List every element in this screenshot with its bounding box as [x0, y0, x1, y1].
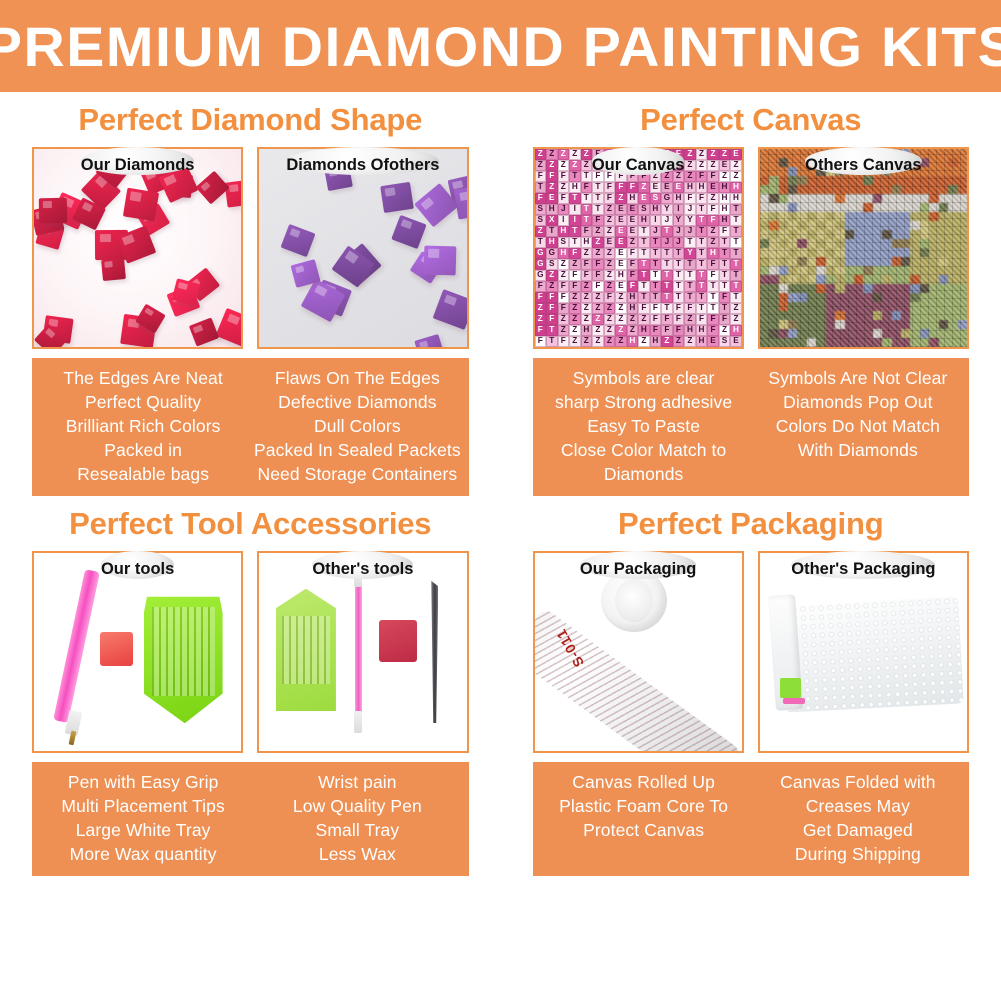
- canvas-symbol-cell: E: [615, 237, 627, 248]
- textbox-column-ours: Symbols are clearsharp Strong adhesiveEa…: [537, 366, 751, 486]
- green-tray-peek: [780, 678, 801, 698]
- canvas-symbol-cell: T: [638, 259, 650, 270]
- drill-square: [414, 334, 445, 349]
- green-tray: [144, 589, 223, 724]
- canvas-symbol-cell: Z: [604, 259, 616, 270]
- canvas-symbol-cell: F: [546, 171, 558, 182]
- canvas-symbol-cell: T: [730, 281, 742, 292]
- card-caption: Diamonds Ofothers: [286, 147, 439, 175]
- canvas-symbol-cell: Z: [627, 325, 639, 336]
- canvas-symbol-cell: Z: [604, 325, 616, 336]
- card-our-packaging: S-011 Our Packaging: [533, 551, 744, 753]
- canvas-symbol-cell: J: [661, 215, 673, 226]
- photo-purple-drills: [257, 147, 468, 349]
- canvas-symbol-cell: T: [546, 226, 558, 237]
- textbox-line: Close Color Match to: [537, 438, 751, 462]
- canvas-symbol-cell: T: [696, 292, 708, 303]
- canvas-symbol-cell: H: [615, 270, 627, 281]
- canvas-symbol-cell: T: [719, 303, 731, 314]
- canvas-symbol-cell: F: [673, 314, 685, 325]
- canvas-symbol-cell: T: [581, 193, 593, 204]
- canvas-symbol-cell: F: [604, 193, 616, 204]
- textbox-line: Colors Do Not Match: [751, 414, 965, 438]
- canvas-symbol-cell: X: [546, 215, 558, 226]
- canvas-symbol-cell: G: [661, 193, 673, 204]
- canvas-symbol-cell: E: [546, 193, 558, 204]
- canvas-symbol-cell: H: [673, 193, 685, 204]
- canvas-symbol-cell: F: [535, 325, 547, 336]
- canvas-symbol-cell: H: [719, 204, 731, 215]
- canvas-symbol-cell: Z: [558, 182, 570, 193]
- canvas-symbol-cell: F: [627, 259, 639, 270]
- pink-pen: [53, 569, 99, 723]
- canvas-symbol-cell: T: [535, 182, 547, 193]
- canvas-symbol-cell: F: [581, 226, 593, 237]
- canvas-symbol-cell: F: [592, 215, 604, 226]
- canvas-symbol-cell: H: [569, 182, 581, 193]
- textbox-line: Diamonds: [537, 462, 751, 486]
- tray-ribs: [152, 607, 215, 696]
- canvas-symbol-cell: Z: [638, 314, 650, 325]
- canvas-symbol-cell: H: [696, 182, 708, 193]
- canvas-symbol-cell: F: [627, 248, 639, 259]
- canvas-symbol-cell: E: [707, 336, 719, 347]
- section-canvas: Perfect Canvas ZZZZZFFFFFZZFZZZZEZZZZZFF…: [501, 92, 1001, 496]
- canvas-symbol-cell: H: [627, 292, 639, 303]
- canvas-symbol-cell: Z: [730, 314, 742, 325]
- canvas-symbol-cell: E: [627, 226, 639, 237]
- canvas-symbol-cell: I: [673, 204, 685, 215]
- canvas-symbol-cell: T: [592, 193, 604, 204]
- canvas-symbol-cell: Z: [569, 292, 581, 303]
- pink-symbol-grid-art: ZZZZZFFFFFZZFZZZZEZZZZZFFFFFFZZZZZEZFFFT…: [535, 149, 742, 347]
- textbox-column-ours: Canvas Rolled UpPlastic Foam Core ToProt…: [537, 770, 751, 866]
- canvas-symbol-cell: T: [707, 292, 719, 303]
- textbox-column-others: Symbols Are Not ClearDiamonds Pop OutCol…: [751, 366, 965, 486]
- textbox-line: Packed In Sealed Packets: [250, 438, 464, 462]
- section-textbox: Pen with Easy GripMulti Placement TipsLa…: [32, 762, 469, 876]
- canvas-symbol-cell: T: [719, 248, 731, 259]
- canvas-symbol-cell: E: [661, 182, 673, 193]
- canvas-symbol-cell: T: [661, 281, 673, 292]
- canvas-symbol-cell: Z: [569, 160, 581, 171]
- canvas-symbol-cell: F: [558, 193, 570, 204]
- canvas-symbol-cell: T: [546, 336, 558, 347]
- textbox-line: Brilliant Rich Colors: [36, 414, 250, 438]
- canvas-symbol-cell: Z: [684, 149, 696, 160]
- card-our-canvas: ZZZZZFFFFFZZFZZZZEZZZZZFFFFFFZZZZZEZFFFT…: [533, 147, 744, 349]
- canvas-symbol-cell: E: [627, 215, 639, 226]
- canvas-symbol-cell: G: [535, 259, 547, 270]
- canvas-symbol-cell: Z: [719, 325, 731, 336]
- photo-mailing-tube: S-011: [533, 551, 744, 753]
- drill-square: [423, 246, 456, 276]
- canvas-symbol-cell: Z: [558, 325, 570, 336]
- section-tool-accessories: Perfect Tool Accessories: [0, 496, 501, 876]
- textbox-line: Protect Canvas: [537, 818, 751, 842]
- canvas-symbol-cell: Z: [707, 193, 719, 204]
- canvas-symbol-cell: E: [627, 204, 639, 215]
- canvas-symbol-cell: H: [650, 336, 662, 347]
- canvas-symbol-cell: Z: [581, 149, 593, 160]
- textbox-line: sharp Strong adhesive: [537, 390, 751, 414]
- canvas-symbol-cell: F: [627, 281, 639, 292]
- canvas-symbol-cell: F: [673, 325, 685, 336]
- canvas-symbol-cell: E: [638, 193, 650, 204]
- canvas-symbol-cell: J: [661, 237, 673, 248]
- canvas-symbol-cell: Z: [581, 303, 593, 314]
- textbox-line: Get Damaged: [751, 818, 965, 842]
- canvas-symbol-cell: T: [638, 292, 650, 303]
- canvas-symbol-cell: T: [696, 259, 708, 270]
- our-tools-art: [34, 553, 241, 751]
- purple-square-drills-art: [259, 149, 466, 347]
- canvas-symbol-cell: Z: [707, 149, 719, 160]
- canvas-symbol-cell: H: [696, 336, 708, 347]
- canvas-symbol-cell: Z: [592, 303, 604, 314]
- canvas-symbol-cell: T: [661, 270, 673, 281]
- canvas-symbol-cell: T: [719, 270, 731, 281]
- canvas-symbol-cell: Z: [581, 248, 593, 259]
- canvas-symbol-cell: T: [673, 292, 685, 303]
- canvas-symbol-cell: Z: [592, 336, 604, 347]
- canvas-symbol-cell: Z: [604, 336, 616, 347]
- section-textbox: The Edges Are NeatPerfect QualityBrillia…: [32, 358, 469, 496]
- canvas-symbol-cell: F: [581, 182, 593, 193]
- canvas-symbol-cell: T: [684, 292, 696, 303]
- drill-square: [101, 258, 126, 281]
- blurry-canvas-art: [760, 149, 967, 347]
- canvas-symbol-cell: H: [730, 193, 742, 204]
- canvas-symbol-cell: F: [696, 193, 708, 204]
- canvas-symbol-cell: F: [592, 270, 604, 281]
- canvas-symbol-cell: F: [684, 303, 696, 314]
- canvas-symbol-cell: F: [546, 303, 558, 314]
- canvas-symbol-cell: E: [615, 259, 627, 270]
- canvas-symbol-cell: Z: [535, 303, 547, 314]
- textbox-line: Dull Colors: [250, 414, 464, 438]
- canvas-symbol-cell: F: [650, 314, 662, 325]
- canvas-symbol-cell: J: [558, 204, 570, 215]
- canvas-symbol-cell: Z: [581, 292, 593, 303]
- canvas-symbol-cell: F: [558, 292, 570, 303]
- canvas-symbol-cell: T: [661, 303, 673, 314]
- canvas-symbol-cell: T: [684, 259, 696, 270]
- canvas-symbol-cell: E: [604, 237, 616, 248]
- canvas-symbol-cell: F: [650, 325, 662, 336]
- textbox-line: Diamonds Pop Out: [751, 390, 965, 414]
- canvas-symbol-cell: S: [535, 204, 547, 215]
- canvas-symbol-cell: Z: [592, 237, 604, 248]
- canvas-symbol-cell: F: [707, 325, 719, 336]
- canvas-symbol-cell: T: [684, 281, 696, 292]
- canvas-symbol-cell: Z: [569, 303, 581, 314]
- canvas-symbol-cell: S: [546, 259, 558, 270]
- textbox-line: More Wax quantity: [36, 842, 250, 866]
- canvas-symbol-cell: H: [707, 248, 719, 259]
- canvas-symbol-cell: H: [719, 215, 731, 226]
- canvas-symbol-cell: T: [638, 237, 650, 248]
- canvas-symbol-cell: H: [581, 237, 593, 248]
- canvas-symbol-cell: Z: [546, 182, 558, 193]
- canvas-symbol-cell: H: [558, 248, 570, 259]
- wax-square: [100, 632, 133, 666]
- textbox-line: Canvas Folded with: [751, 770, 965, 794]
- pink-pen: [355, 573, 362, 727]
- tray-ribs: [282, 616, 330, 685]
- canvas-symbol-cell: F: [719, 314, 731, 325]
- canvas-symbol-cell: F: [615, 182, 627, 193]
- other-packaging-art: [760, 553, 967, 751]
- photo-other-tools: [257, 551, 468, 753]
- canvas-symbol-cell: F: [650, 303, 662, 314]
- canvas-symbol-cell: E: [615, 204, 627, 215]
- canvas-symbol-cell: F: [604, 182, 616, 193]
- canvas-symbol-cell: H: [546, 237, 558, 248]
- page-header: PREMIUM DIAMOND PAINTING KITS: [0, 0, 1001, 92]
- canvas-symbol-cell: T: [707, 303, 719, 314]
- textbox-line: Symbols are clear: [537, 366, 751, 390]
- canvas-symbol-cell: F: [592, 259, 604, 270]
- our-packaging-art: S-011: [535, 553, 742, 751]
- textbox-line: Wrist pain: [250, 770, 464, 794]
- canvas-symbol-cell: H: [546, 204, 558, 215]
- canvas-symbol-cell: T: [581, 204, 593, 215]
- canvas-symbol-cell: E: [615, 248, 627, 259]
- canvas-symbol-cell: T: [719, 259, 731, 270]
- canvas-symbol-cell: Z: [707, 160, 719, 171]
- canvas-symbol-cell: G: [546, 248, 558, 259]
- canvas-symbol-cell: H: [638, 325, 650, 336]
- canvas-symbol-cell: I: [569, 215, 581, 226]
- canvas-symbol-cell: H: [627, 303, 639, 314]
- textbox-line: Less Wax: [250, 842, 464, 866]
- canvas-symbol-cell: T: [684, 270, 696, 281]
- canvas-symbol-cell: Z: [604, 314, 616, 325]
- textbox-line: Large White Tray: [36, 818, 250, 842]
- canvas-symbol-cell: T: [535, 237, 547, 248]
- canvas-symbol-cell: Z: [719, 149, 731, 160]
- photo-symbol-canvas: ZZZZZFFFFFZZFZZZZEZZZZZFFFFFFZZZZZEZFFFT…: [533, 147, 744, 349]
- canvas-symbol-cell: T: [696, 248, 708, 259]
- canvas-symbol-cell: Z: [730, 303, 742, 314]
- canvas-symbol-cell: Z: [684, 160, 696, 171]
- green-tray-small: [276, 589, 336, 712]
- drill-square: [433, 289, 469, 330]
- canvas-symbol-cell: T: [673, 259, 685, 270]
- card-other-packaging: Other's Packaging: [758, 551, 969, 753]
- canvas-symbol-cell: J: [650, 226, 662, 237]
- canvas-symbol-cell: T: [673, 270, 685, 281]
- canvas-symbol-cell: T: [638, 281, 650, 292]
- canvas-symbol-cell: F: [558, 303, 570, 314]
- textbox-column-others: Flaws On The EdgesDefective DiamondsDull…: [250, 366, 464, 486]
- textbox-line: Multi Placement Tips: [36, 794, 250, 818]
- canvas-symbol-cell: Z: [558, 160, 570, 171]
- canvas-symbol-cell: S: [650, 193, 662, 204]
- canvas-symbol-cell: E: [673, 182, 685, 193]
- canvas-symbol-cell: F: [558, 171, 570, 182]
- canvas-symbol-cell: S: [535, 215, 547, 226]
- section-cards: S-011 Our Packaging: [515, 551, 988, 753]
- textbox-line: Pen with Easy Grip: [36, 770, 250, 794]
- canvas-symbol-cell: F: [707, 204, 719, 215]
- canvas-symbol-cell: E: [615, 281, 627, 292]
- canvas-symbol-cell: Z: [615, 336, 627, 347]
- canvas-symbol-cell: F: [558, 281, 570, 292]
- canvas-symbol-cell: Z: [592, 226, 604, 237]
- canvas-symbol-cell: Z: [558, 149, 570, 160]
- drill-square: [38, 198, 66, 224]
- drill-square: [195, 171, 229, 205]
- canvas-symbol-cell: H: [719, 182, 731, 193]
- canvas-symbol-cell: Z: [615, 303, 627, 314]
- section-textbox: Symbols are clearsharp Strong adhesiveEa…: [533, 358, 970, 496]
- canvas-symbol-cell: I: [650, 215, 662, 226]
- textbox-line: Symbols Are Not Clear: [751, 366, 965, 390]
- canvas-symbol-cell: T: [650, 270, 662, 281]
- canvas-symbol-cell: Z: [535, 226, 547, 237]
- drill-square: [123, 187, 159, 221]
- canvas-symbol-cell: T: [719, 237, 731, 248]
- canvas-symbol-cell: Z: [615, 325, 627, 336]
- canvas-symbol-cell: Z: [581, 281, 593, 292]
- canvas-symbol-cell: Y: [684, 215, 696, 226]
- canvas-symbol-cell: T: [730, 292, 742, 303]
- canvas-symbol-cell: Z: [684, 336, 696, 347]
- canvas-symbol-cell: H: [581, 325, 593, 336]
- canvas-symbol-cell: F: [604, 292, 616, 303]
- canvas-symbol-cell: T: [638, 270, 650, 281]
- canvas-symbol-cell: T: [730, 237, 742, 248]
- drill-square: [189, 317, 219, 346]
- canvas-symbol-cell: H: [730, 182, 742, 193]
- canvas-symbol-cell: Z: [627, 237, 639, 248]
- canvas-symbol-cell: Z: [604, 270, 616, 281]
- canvas-symbol-cell: Z: [569, 325, 581, 336]
- canvas-symbol-cell: F: [569, 270, 581, 281]
- photo-red-drills: [32, 147, 243, 349]
- canvas-symbol-cell: F: [535, 292, 547, 303]
- section-cards: ZZZZZFFFFFZZFZZZZEZZZZZFFFFFFZZZZZEZFFFT…: [515, 147, 988, 349]
- canvas-symbol-cell: F: [719, 292, 731, 303]
- canvas-symbol-cell: F: [569, 248, 581, 259]
- card-other-tools: Other's tools: [257, 551, 468, 753]
- canvas-symbol-cell: T: [592, 204, 604, 215]
- canvas-symbol-cell: Z: [569, 314, 581, 325]
- canvas-symbol-cell: S: [719, 336, 731, 347]
- canvas-symbol-cell: T: [730, 259, 742, 270]
- canvas-symbol-cell: F: [558, 336, 570, 347]
- canvas-symbol-cell: H: [730, 325, 742, 336]
- canvas-symbol-cell: H: [558, 226, 570, 237]
- canvas-symbol-cell: T: [569, 193, 581, 204]
- canvas-symbol-cell: Z: [535, 314, 547, 325]
- canvas-symbol-cell: T: [684, 237, 696, 248]
- canvas-symbol-cell: E: [730, 149, 742, 160]
- red-square-drills-art: [34, 149, 241, 347]
- textbox-line: Defective Diamonds: [250, 390, 464, 414]
- canvas-symbol-cell: T: [661, 226, 673, 237]
- canvas-symbol-cell: T: [661, 259, 673, 270]
- canvas-symbol-cell: T: [638, 226, 650, 237]
- tube-cap-inner: [615, 579, 652, 623]
- card-our-tools: Our tools: [32, 551, 243, 753]
- card-caption: Our tools: [101, 551, 174, 579]
- canvas-symbol-cell: Z: [696, 149, 708, 160]
- canvas-symbol-cell: Z: [592, 325, 604, 336]
- canvas-symbol-cell: H: [719, 193, 731, 204]
- canvas-symbol-cell: Z: [730, 160, 742, 171]
- card-our-diamonds: Our Diamonds: [32, 147, 243, 349]
- bubble-wrap-texture: [780, 596, 964, 712]
- canvas-symbol-cell: J: [684, 226, 696, 237]
- canvas-symbol-cell: T: [673, 281, 685, 292]
- textbox-column-ours: Pen with Easy GripMulti Placement TipsLa…: [36, 770, 250, 866]
- textbox-line: Canvas Rolled Up: [537, 770, 751, 794]
- canvas-symbol-cell: T: [673, 248, 685, 259]
- canvas-symbol-cell: F: [707, 171, 719, 182]
- canvas-symbol-cell: Y: [684, 248, 696, 259]
- canvas-symbol-cell: H: [638, 215, 650, 226]
- pink-pen-peek: [783, 698, 806, 705]
- canvas-symbol-cell: T: [730, 248, 742, 259]
- canvas-symbol-cell: Z: [707, 237, 719, 248]
- textbox-column-others: Canvas Folded withCreases MayGet Damaged…: [751, 770, 965, 866]
- textbox-line: Creases May: [751, 794, 965, 818]
- canvas-symbol-cell: G: [535, 270, 547, 281]
- canvas-symbol-cell: J: [684, 204, 696, 215]
- canvas-symbol-cell: F: [673, 303, 685, 314]
- canvas-symbol-cell: Z: [581, 336, 593, 347]
- canvas-symbol-cell: F: [535, 193, 547, 204]
- canvas-symbol-cell: S: [638, 204, 650, 215]
- canvas-symbol-cell: F: [627, 270, 639, 281]
- canvas-symbol-cell: F: [661, 325, 673, 336]
- canvas-symbol-cell: T: [696, 237, 708, 248]
- canvas-symbol-cell: F: [707, 270, 719, 281]
- card-others-canvas: Others Canvas: [758, 147, 969, 349]
- canvas-symbol-cell: Z: [661, 336, 673, 347]
- canvas-symbol-cell: F: [696, 314, 708, 325]
- canvas-symbol-cell: T: [581, 215, 593, 226]
- canvas-symbol-cell: Z: [558, 314, 570, 325]
- textbox-line: Small Tray: [250, 818, 464, 842]
- textbox-line: Packed in: [36, 438, 250, 462]
- canvas-symbol-cell: Z: [558, 270, 570, 281]
- canvas-symbol-cell: Z: [569, 336, 581, 347]
- canvas-symbol-cell: F: [535, 281, 547, 292]
- drill-square: [380, 182, 413, 213]
- canvas-symbol-cell: F: [627, 182, 639, 193]
- canvas-symbol-cell: F: [707, 314, 719, 325]
- other-tools-art: [259, 553, 466, 751]
- pen-nib: [69, 731, 77, 746]
- canvas-symbol-cell: T: [696, 226, 708, 237]
- canvas-symbol-cell: F: [719, 226, 731, 237]
- canvas-symbol-cell: I: [569, 204, 581, 215]
- textbox-line: Low Quality Pen: [250, 794, 464, 818]
- canvas-symbol-cell: Z: [604, 204, 616, 215]
- bubble-mailer: [780, 596, 964, 712]
- canvas-symbol-cell: Z: [604, 303, 616, 314]
- canvas-symbol-cell: Z: [684, 171, 696, 182]
- canvas-symbol-cell: H: [627, 336, 639, 347]
- canvas-symbol-cell: Z: [592, 314, 604, 325]
- canvas-symbol-cell: Y: [661, 204, 673, 215]
- canvas-symbol-cell: H: [684, 182, 696, 193]
- canvas-symbol-cell: Z: [604, 226, 616, 237]
